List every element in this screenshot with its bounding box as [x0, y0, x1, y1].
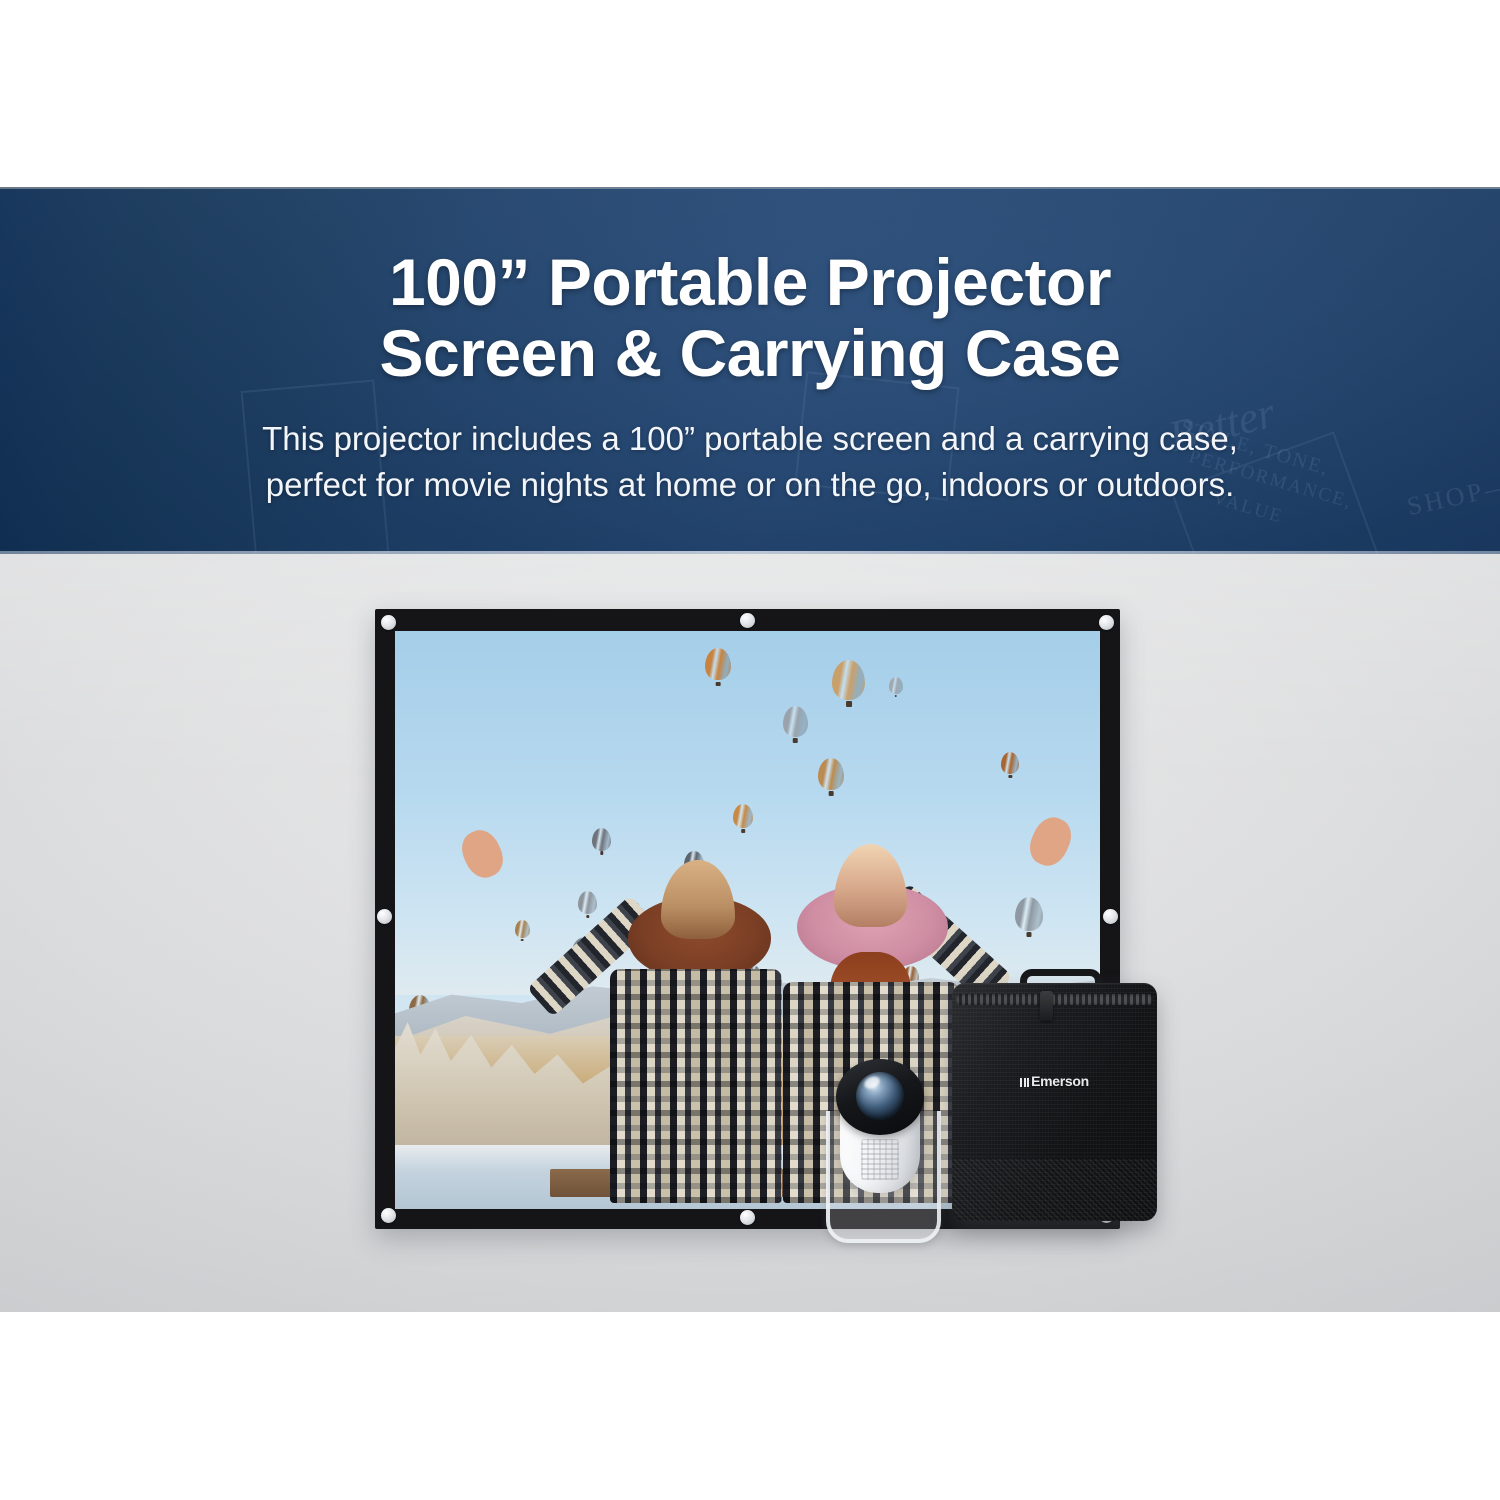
hot-air-balloon — [832, 660, 865, 700]
carrying-case: Emerson — [952, 969, 1157, 1221]
grommet-bottom-center — [740, 1210, 755, 1225]
hot-air-balloon — [733, 804, 753, 828]
grommet-top-center — [740, 613, 755, 628]
hot-air-balloon — [1015, 897, 1043, 931]
case-zipper — [956, 994, 1153, 1005]
projector-vent-grille — [861, 1139, 899, 1179]
page-title: 100” Portable Projector Screen & Carryin… — [0, 187, 1500, 390]
person-left-plaid-shirt — [610, 969, 782, 1203]
headline-line-2: Screen & Carrying Case — [0, 318, 1500, 389]
case-brand-name: Emerson — [1031, 1073, 1089, 1089]
subhead-line-2: perfect for movie nights at home or on t… — [0, 462, 1500, 509]
hot-air-balloon — [592, 828, 611, 851]
top-white-margin — [0, 0, 1500, 187]
hot-air-balloon — [1001, 752, 1019, 774]
hero-banner: Better STYLE, TONE, PERFORMANCE, VALUE S… — [0, 187, 1500, 554]
hot-air-balloon — [705, 648, 731, 680]
grommet-left-middle — [377, 909, 392, 924]
page-subtitle: This projector includes a 100” portable … — [0, 390, 1500, 510]
emerson-logo-mark — [1020, 1078, 1029, 1087]
grommet-top-right — [1099, 615, 1114, 630]
case-gray-accent-panel — [952, 1159, 1157, 1221]
product-marketing-page: Better STYLE, TONE, PERFORMANCE, VALUE S… — [0, 0, 1500, 1500]
case-zipper-pull — [1040, 991, 1053, 1021]
case-brand-logo: Emerson — [952, 1073, 1157, 1089]
headline-line-1: 100” Portable Projector — [0, 247, 1500, 318]
projector-lens-glass — [856, 1072, 904, 1120]
hot-air-balloon — [578, 891, 597, 914]
hot-air-balloon — [818, 758, 844, 790]
case-body: Emerson — [952, 983, 1157, 1221]
hot-air-balloon — [889, 677, 903, 694]
product-stage: Emerson — [0, 554, 1500, 1312]
grommet-top-left — [381, 615, 396, 630]
grommet-right-middle — [1103, 909, 1118, 924]
bottom-white-margin — [0, 1312, 1500, 1500]
subhead-line-1: This projector includes a 100” portable … — [0, 416, 1500, 463]
hero-text-block: 100” Portable Projector Screen & Carryin… — [0, 187, 1500, 509]
hot-air-balloon — [515, 920, 530, 938]
projector-lens-barrel — [836, 1059, 924, 1135]
hot-air-balloon — [783, 706, 808, 737]
grommet-bottom-left — [381, 1208, 396, 1223]
person-left — [607, 908, 790, 1209]
portable-projector — [822, 1059, 937, 1249]
